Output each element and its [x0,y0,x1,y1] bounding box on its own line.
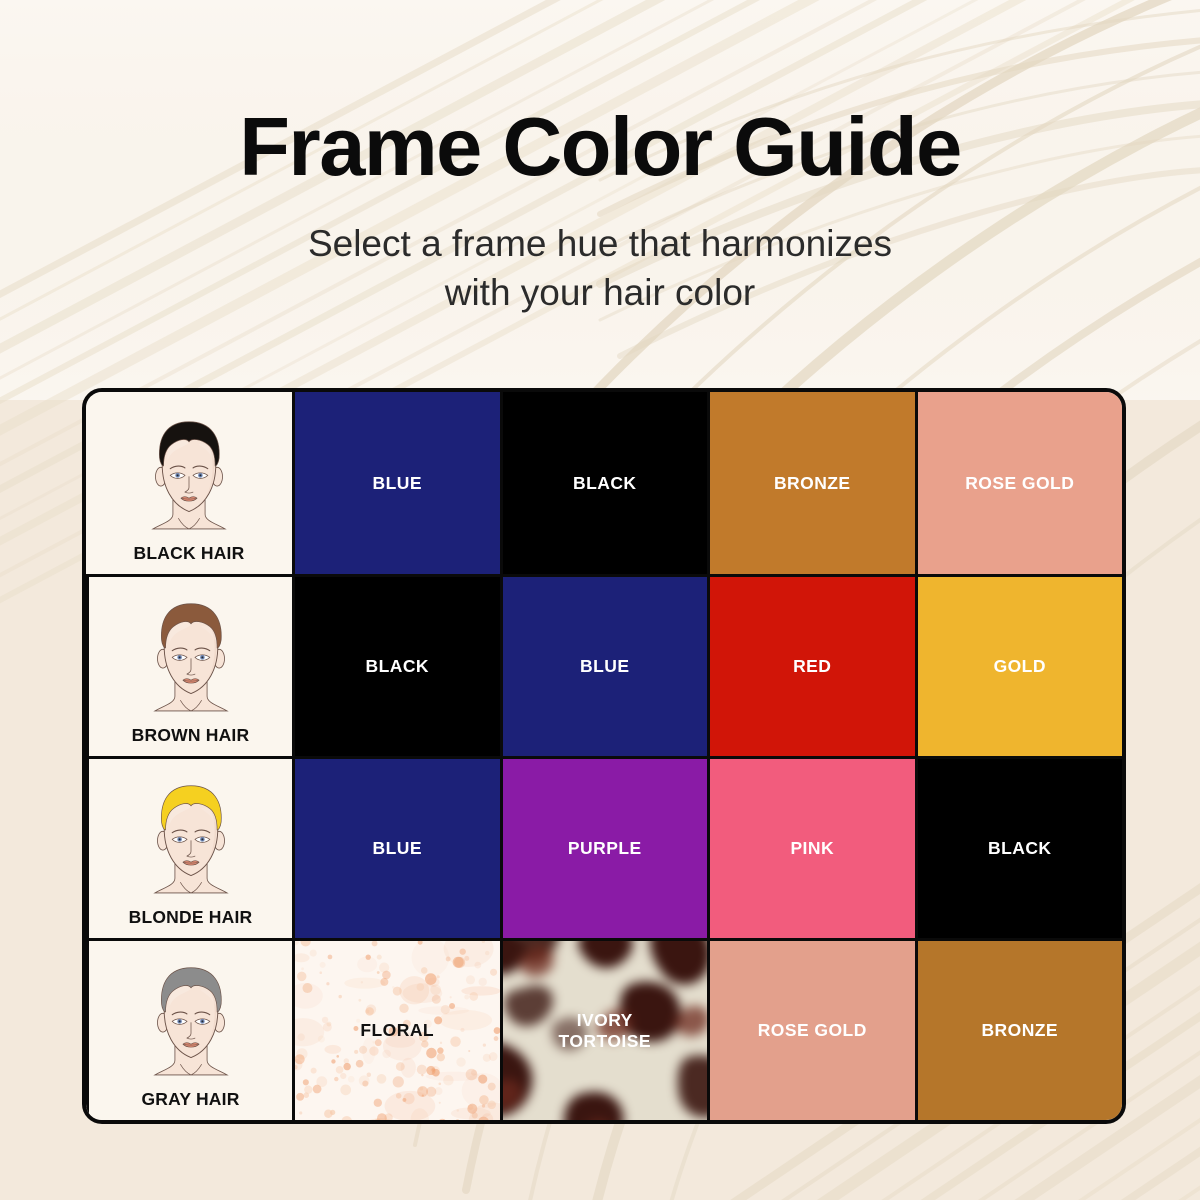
color-swatch-label: RED [793,656,831,676]
color-swatch-red[interactable]: RED [707,574,915,756]
page-subtitle: Select a frame hue that harmonizes with … [0,188,1200,318]
face-illustration [124,953,258,1087]
color-swatch-label: BLACK [988,838,1052,858]
color-swatch-black[interactable]: BLACK [915,756,1123,938]
subtitle-line-1: Select a frame hue that harmonizes [308,223,892,264]
color-swatch-blue[interactable]: BLUE [500,574,708,756]
color-swatch-gold[interactable]: GOLD [915,574,1123,756]
color-swatch-label: BRONZE [981,1020,1058,1040]
face-illustration [122,407,256,541]
frame-color-grid: BLACK HAIRBLUEBLACKBRONZEROSE GOLD BROWN… [82,388,1126,1124]
color-swatch-bronze[interactable]: BRONZE [915,938,1123,1120]
hair-type-cell-gray: GRAY HAIR [86,938,292,1120]
hair-type-label: BLONDE HAIR [129,907,253,928]
subtitle-line-2: with your hair color [445,272,756,313]
color-swatch-label: ROSE GOLD [965,473,1074,493]
color-swatch-label: BLACK [366,656,430,676]
color-swatch-bronze[interactable]: BRONZE [707,392,915,574]
color-swatch-black[interactable]: BLACK [500,392,708,574]
color-swatch-pink[interactable]: PINK [707,756,915,938]
page-header: Frame Color Guide Select a frame hue tha… [0,0,1200,318]
page-title: Frame Color Guide [0,0,1200,188]
color-swatch-label: ROSE GOLD [758,1020,867,1040]
color-swatch-label: BLUE [580,656,629,676]
color-swatch-blue[interactable]: BLUE [292,392,500,574]
color-swatch-rose-gold[interactable]: ROSE GOLD [707,938,915,1120]
color-swatch-label: BLACK [573,473,637,493]
color-swatch-floral[interactable]: FLORAL [292,938,500,1120]
hair-type-label: BLACK HAIR [134,543,245,564]
color-swatch-label: BRONZE [774,473,851,493]
color-swatch-label: BLUE [373,473,422,493]
color-swatch-label: BLUE [373,838,422,858]
color-swatch-label: PINK [790,838,834,858]
color-swatch-label: PURPLE [568,838,642,858]
face-illustration [124,589,258,723]
hair-type-cell-blonde: BLONDE HAIR [86,756,292,938]
color-swatch-ivory-tortoise[interactable]: IVORYTORTOISE [500,938,708,1120]
color-swatch-blue[interactable]: BLUE [292,756,500,938]
hair-type-label: GRAY HAIR [141,1089,239,1110]
color-swatch-rose-gold[interactable]: ROSE GOLD [915,392,1123,574]
color-swatch-label: IVORYTORTOISE [559,1010,651,1050]
color-swatch-label: FLORAL [360,1020,434,1040]
color-swatch-black[interactable]: BLACK [292,574,500,756]
hair-type-cell-brown: BROWN HAIR [86,574,292,756]
face-illustration [124,771,258,905]
color-swatch-label: GOLD [994,656,1046,676]
color-swatch-purple[interactable]: PURPLE [500,756,708,938]
hair-type-cell-black: BLACK HAIR [86,392,292,574]
hair-type-label: BROWN HAIR [132,725,250,746]
